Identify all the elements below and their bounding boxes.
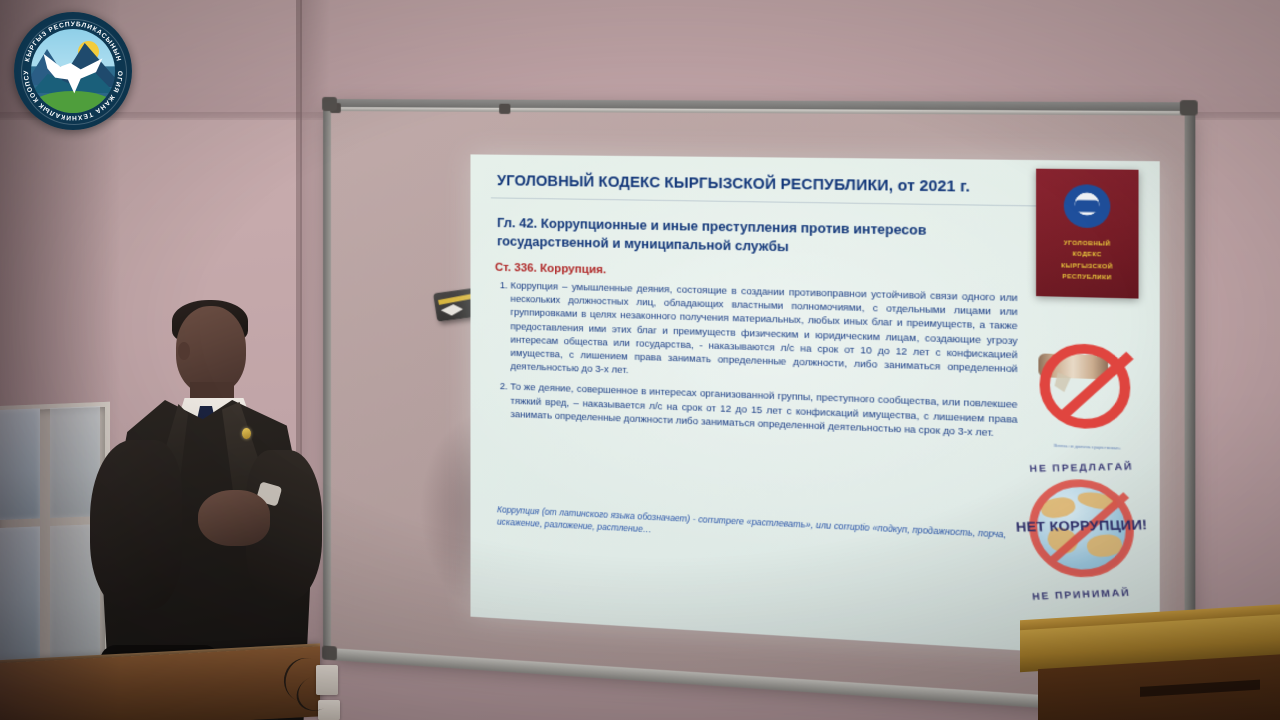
slide-point: Коррупция – умышленные деяния, состоящие…	[510, 279, 1017, 391]
state-emblem-logo: КЫРГЫЗ РЕСПУБЛИКАСЫНЫН ЭКОЛОГИЯ ЖАНА ТЕХ…	[14, 12, 132, 130]
presenter-ear	[178, 342, 190, 360]
rail-clip	[499, 104, 510, 114]
poster-text-top: НЕ ПРЕДЛАГАЙ	[1011, 460, 1153, 474]
book-title-line: РЕСПУБЛИКИ	[1061, 272, 1113, 284]
presenter-hands	[198, 490, 270, 546]
eraser-stripe	[438, 293, 475, 305]
prohibition-circle-icon	[1040, 343, 1131, 431]
slide-body: Коррупция – умышленные деяния, состоящие…	[495, 279, 1018, 449]
criminal-code-book-cover: УГОЛОВНЫЙ КОДЕКС КЫРГЫЗСКОЙ РЕСПУБЛИКИ	[1036, 169, 1138, 299]
book-title-text: УГОЛОВНЫЙ КОДЕКС КЫРГЫЗСКОЙ РЕСПУБЛИКИ	[1061, 238, 1113, 284]
slide-subtitle: Гл. 42. Коррупционные и иные преступлени…	[497, 214, 1006, 262]
eraser-logo	[440, 303, 464, 317]
logo-ring-text: КЫРГЫЗ РЕСПУБЛИКАСЫНЫН ЭКОЛОГИЯ ЖАНА ТЕХ…	[14, 12, 132, 130]
logo-ring-text-top: КЫРГЫЗ РЕСПУБЛИКАСЫНЫН	[24, 21, 122, 63]
projected-slide: УГОЛОВНЫЙ КОДЕКС КЫРГЫЗСКОЙ РЕСПУБЛИКИ, …	[470, 154, 1159, 659]
screenshot-stage: УГОЛОВНЫЙ КОДЕКС КЫРГЫЗСКОЙ РЕСПУБЛИКИ, …	[0, 0, 1280, 720]
frame-corner	[1180, 100, 1198, 115]
book-title-line: УГОЛОВНЫЙ	[1061, 238, 1113, 250]
no-corruption-globe-poster: НЕ ПРЕДЛАГАЙ НЕТ КОРРУПЦИИ! НЕ ПРИНИМАЙ	[1011, 461, 1153, 600]
poster-text-middle: НЕТ КОРРУПЦИИ!	[1010, 517, 1153, 535]
frame-corner	[322, 97, 337, 111]
wooden-podium	[1020, 604, 1280, 720]
poster-text-bottom: НЕ ПРИНИМАЙ	[1011, 586, 1153, 603]
no-bribe-caption: Взятка не должна существовать	[1034, 443, 1141, 452]
lapel-pin-icon	[242, 428, 251, 439]
logo-ring-text-bottom: ЭКОЛОГИЯ ЖАНА ТЕХНИКАЛЫК КООПСУЗДУК	[14, 12, 123, 121]
state-emblem-icon	[1064, 184, 1111, 228]
slide-title: УГОЛОВНЫЙ КОДЕКС КЫРГЫЗСКОЙ РЕСПУБЛИКИ, …	[497, 173, 1110, 199]
no-bribe-prohibition-sign: Взятка не должна существовать	[1029, 324, 1141, 449]
title-underline	[491, 197, 1121, 207]
slide-footnote: Коррупция (от латинского языка обозначае…	[497, 503, 1006, 554]
slide-point: То же деяние, совершенное в интересах ор…	[510, 381, 1017, 441]
whiteboard: УГОЛОВНЫЙ КОДЕКС КЫРГЫЗСКОЙ РЕСПУБЛИКИ, …	[330, 105, 1186, 707]
